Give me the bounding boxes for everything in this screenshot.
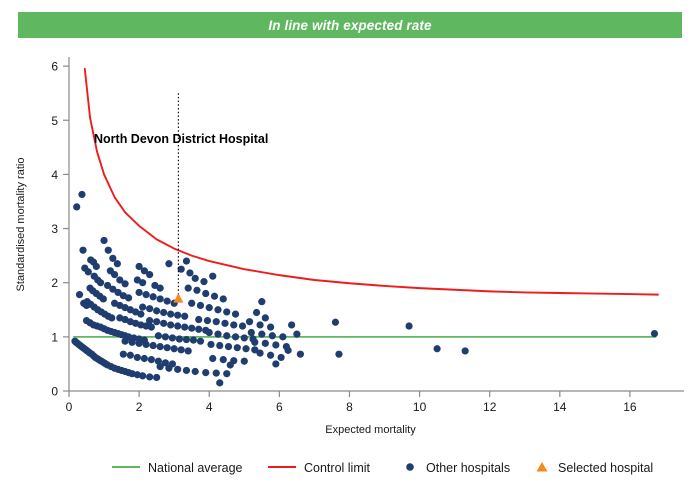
hospital-data-point[interactable] bbox=[100, 237, 107, 244]
hospital-data-point[interactable] bbox=[73, 203, 80, 210]
hospital-data-point[interactable] bbox=[136, 340, 143, 347]
hospital-data-point[interactable] bbox=[197, 338, 204, 345]
hospital-data-point[interactable] bbox=[129, 339, 136, 346]
hospital-data-point[interactable] bbox=[220, 295, 227, 302]
hospital-data-point[interactable] bbox=[108, 314, 115, 321]
hospital-data-point[interactable] bbox=[232, 311, 239, 318]
hospital-data-point[interactable] bbox=[136, 289, 143, 296]
legend-label-3: Other hospitals bbox=[426, 461, 510, 475]
hospital-data-point[interactable] bbox=[204, 317, 211, 324]
hospital-data-point[interactable] bbox=[195, 316, 202, 323]
y-axis-tick-label: 2 bbox=[51, 276, 58, 290]
hospital-data-point[interactable] bbox=[211, 293, 218, 300]
hospital-data-point[interactable] bbox=[248, 329, 255, 336]
hospital-data-point[interactable] bbox=[153, 307, 160, 314]
hospital-data-point[interactable] bbox=[139, 279, 146, 286]
hospital-data-point[interactable] bbox=[246, 318, 253, 325]
hospital-data-point[interactable] bbox=[157, 363, 164, 370]
hospital-data-point[interactable] bbox=[239, 322, 246, 329]
hospital-data-point[interactable] bbox=[174, 322, 181, 329]
y-axis-tick-label: 3 bbox=[51, 222, 58, 236]
hospital-data-point[interactable] bbox=[220, 356, 227, 363]
hospital-data-point[interactable] bbox=[288, 321, 295, 328]
hospital-data-point[interactable] bbox=[214, 331, 221, 338]
y-axis-tick-label: 0 bbox=[51, 385, 58, 399]
selected-hospital-marker[interactable] bbox=[173, 293, 183, 303]
hospital-data-point[interactable] bbox=[176, 335, 183, 342]
hospital-data-point[interactable] bbox=[183, 367, 190, 374]
x-axis-title: Expected mortality bbox=[325, 424, 416, 436]
hospital-data-point[interactable] bbox=[121, 338, 128, 345]
hospital-data-point[interactable] bbox=[214, 306, 221, 313]
other-hospitals-series bbox=[71, 191, 658, 387]
hospital-data-point[interactable] bbox=[335, 351, 342, 358]
hospital-data-point[interactable] bbox=[171, 345, 178, 352]
hospital-data-point[interactable] bbox=[221, 320, 228, 327]
hospital-data-point[interactable] bbox=[174, 312, 181, 319]
hospital-data-point[interactable] bbox=[186, 269, 193, 276]
hospital-data-point[interactable] bbox=[188, 325, 195, 332]
hospital-data-point[interactable] bbox=[213, 370, 220, 377]
hospital-data-point[interactable] bbox=[202, 369, 209, 376]
hospital-data-point[interactable] bbox=[167, 321, 174, 328]
hospital-data-point[interactable] bbox=[165, 260, 172, 267]
y-axis-title: Standardised mortality ratio bbox=[15, 158, 27, 292]
hospital-data-point[interactable] bbox=[272, 360, 279, 367]
hospital-data-point[interactable] bbox=[188, 300, 195, 307]
hospital-data-point[interactable] bbox=[195, 326, 202, 333]
hospital-data-point[interactable] bbox=[234, 344, 241, 351]
hospital-data-point[interactable] bbox=[332, 319, 339, 326]
hospital-data-point[interactable] bbox=[143, 341, 150, 348]
hospital-data-point[interactable] bbox=[174, 366, 181, 373]
hospital-data-point[interactable] bbox=[223, 370, 230, 377]
hospital-data-point[interactable] bbox=[267, 352, 274, 359]
funnel-plot-svg: 01234560246810121416Expected mortalitySt… bbox=[0, 0, 700, 500]
hospital-data-point[interactable] bbox=[206, 329, 213, 336]
hospital-data-point[interactable] bbox=[193, 287, 200, 294]
hospital-data-point[interactable] bbox=[150, 293, 157, 300]
x-axis-tick-label: 4 bbox=[206, 400, 213, 414]
hospital-data-point[interactable] bbox=[213, 318, 220, 325]
hospital-data-point[interactable] bbox=[293, 331, 300, 338]
hospital-data-point[interactable] bbox=[79, 247, 86, 254]
hospital-data-point[interactable] bbox=[185, 347, 192, 354]
hospital-data-point[interactable] bbox=[162, 333, 169, 340]
hospital-data-point[interactable] bbox=[157, 343, 164, 350]
hospital-data-point[interactable] bbox=[137, 311, 144, 318]
hospital-data-point[interactable] bbox=[160, 320, 167, 327]
hospital-data-point[interactable] bbox=[139, 372, 146, 379]
hospital-data-point[interactable] bbox=[185, 285, 192, 292]
hospital-data-point[interactable] bbox=[227, 361, 234, 368]
hospital-data-point[interactable] bbox=[165, 365, 172, 372]
hospital-data-point[interactable] bbox=[157, 295, 164, 302]
hospital-data-point[interactable] bbox=[146, 305, 153, 312]
selected-hospital-annotation: North Devon District Hospital bbox=[94, 132, 268, 146]
hospital-data-point[interactable] bbox=[76, 291, 83, 298]
hospital-data-point[interactable] bbox=[155, 332, 162, 339]
hospital-data-point[interactable] bbox=[206, 304, 213, 311]
hospital-data-point[interactable] bbox=[216, 379, 223, 386]
hospital-data-point[interactable] bbox=[651, 330, 658, 337]
hospital-data-point[interactable] bbox=[141, 355, 148, 362]
y-axis-tick-label: 5 bbox=[51, 114, 58, 128]
hospital-data-point[interactable] bbox=[143, 291, 150, 298]
funnel-plot-page: In line with expected rate 0123456024681… bbox=[0, 0, 700, 500]
hospital-data-point[interactable] bbox=[297, 351, 304, 358]
hospital-data-point[interactable] bbox=[216, 342, 223, 349]
x-axis-tick-label: 8 bbox=[346, 400, 353, 414]
hospital-data-point[interactable] bbox=[114, 260, 121, 267]
hospital-data-point[interactable] bbox=[148, 324, 155, 331]
hospital-data-point[interactable] bbox=[202, 290, 209, 297]
hospital-data-point[interactable] bbox=[181, 313, 188, 320]
hospital-data-point[interactable] bbox=[183, 257, 190, 264]
hospital-data-point[interactable] bbox=[153, 374, 160, 381]
hospital-data-point[interactable] bbox=[157, 285, 164, 292]
x-axis-tick-label: 2 bbox=[136, 400, 143, 414]
hospital-data-point[interactable] bbox=[262, 340, 269, 347]
hospital-data-point[interactable] bbox=[258, 298, 265, 305]
hospital-data-point[interactable] bbox=[181, 324, 188, 331]
hospital-data-point[interactable] bbox=[462, 347, 469, 354]
legend-label-2: Control limit bbox=[304, 461, 371, 475]
hospital-data-point[interactable] bbox=[258, 331, 265, 338]
hospital-data-point[interactable] bbox=[262, 314, 269, 321]
hospital-data-point[interactable] bbox=[93, 263, 100, 270]
legend-label-1: National average bbox=[148, 461, 243, 475]
hospital-data-point[interactable] bbox=[169, 334, 176, 341]
hospital-data-point[interactable] bbox=[230, 321, 237, 328]
legend-label-4: Selected hospital bbox=[558, 461, 653, 475]
hospital-data-point[interactable] bbox=[405, 322, 412, 329]
hospital-data-point[interactable] bbox=[279, 333, 286, 340]
hospital-data-point[interactable] bbox=[241, 358, 248, 365]
x-axis-tick-label: 12 bbox=[483, 400, 497, 414]
hospital-data-point[interactable] bbox=[146, 373, 153, 380]
hospital-data-point[interactable] bbox=[251, 339, 258, 346]
hospital-data-point[interactable] bbox=[121, 280, 128, 287]
hospital-data-point[interactable] bbox=[178, 346, 185, 353]
chart-canvas: 01234560246810121416Expected mortalitySt… bbox=[0, 0, 700, 500]
hospital-data-point[interactable] bbox=[197, 302, 204, 309]
legend-swatch-3 bbox=[406, 463, 414, 471]
hospital-data-point[interactable] bbox=[256, 349, 263, 356]
hospital-data-point[interactable] bbox=[241, 334, 248, 341]
hospital-data-point[interactable] bbox=[150, 342, 157, 349]
hospital-data-point[interactable] bbox=[105, 247, 112, 254]
hospital-data-point[interactable] bbox=[225, 343, 232, 350]
y-axis-tick-label: 4 bbox=[51, 168, 58, 182]
hospital-data-point[interactable] bbox=[127, 352, 134, 359]
y-axis-tick-label: 1 bbox=[51, 330, 58, 344]
hospital-data-point[interactable] bbox=[160, 309, 167, 316]
y-axis-tick-label: 6 bbox=[51, 60, 58, 74]
legend-swatch-4 bbox=[537, 462, 548, 472]
hospital-data-point[interactable] bbox=[209, 273, 216, 280]
hospital-data-point[interactable] bbox=[97, 279, 104, 286]
hospital-data-point[interactable] bbox=[267, 324, 274, 331]
hospital-data-point[interactable] bbox=[183, 336, 190, 343]
hospital-data-point[interactable] bbox=[223, 332, 230, 339]
hospital-data-point[interactable] bbox=[209, 355, 216, 362]
hospital-data-point[interactable] bbox=[434, 345, 441, 352]
hospital-data-point[interactable] bbox=[85, 268, 92, 275]
hospital-data-point[interactable] bbox=[232, 333, 239, 340]
x-axis-tick-label: 14 bbox=[553, 400, 567, 414]
hospital-data-point[interactable] bbox=[253, 309, 260, 316]
hospital-data-point[interactable] bbox=[192, 275, 199, 282]
hospital-data-point[interactable] bbox=[125, 294, 132, 301]
hospital-data-point[interactable] bbox=[111, 271, 118, 278]
hospital-data-point[interactable] bbox=[100, 295, 107, 302]
hospital-data-point[interactable] bbox=[200, 278, 207, 285]
hospital-data-point[interactable] bbox=[167, 311, 174, 318]
x-axis-tick-label: 0 bbox=[66, 400, 73, 414]
hospital-data-point[interactable] bbox=[269, 332, 276, 339]
hospital-data-point[interactable] bbox=[148, 356, 155, 363]
x-axis-tick-label: 6 bbox=[276, 400, 283, 414]
hospital-data-point[interactable] bbox=[242, 345, 249, 352]
hospital-data-point[interactable] bbox=[207, 341, 214, 348]
hospital-data-point[interactable] bbox=[285, 347, 292, 354]
hospital-data-point[interactable] bbox=[78, 191, 85, 198]
hospital-data-point[interactable] bbox=[134, 354, 141, 361]
hospital-data-point[interactable] bbox=[139, 303, 146, 310]
hospital-data-point[interactable] bbox=[146, 271, 153, 278]
hospital-data-point[interactable] bbox=[120, 351, 127, 358]
x-axis-tick-label: 10 bbox=[413, 400, 427, 414]
hospital-data-point[interactable] bbox=[223, 308, 230, 315]
hospital-data-point[interactable] bbox=[164, 298, 171, 305]
hospital-data-point[interactable] bbox=[153, 318, 160, 325]
hospital-data-point[interactable] bbox=[190, 337, 197, 344]
hospital-data-point[interactable] bbox=[278, 354, 285, 361]
hospital-data-point[interactable] bbox=[272, 341, 279, 348]
x-axis-tick-label: 16 bbox=[623, 400, 637, 414]
hospital-data-point[interactable] bbox=[192, 368, 199, 375]
hospital-data-point[interactable] bbox=[146, 317, 153, 324]
hospital-data-point[interactable] bbox=[164, 344, 171, 351]
hospital-data-point[interactable] bbox=[256, 321, 263, 328]
